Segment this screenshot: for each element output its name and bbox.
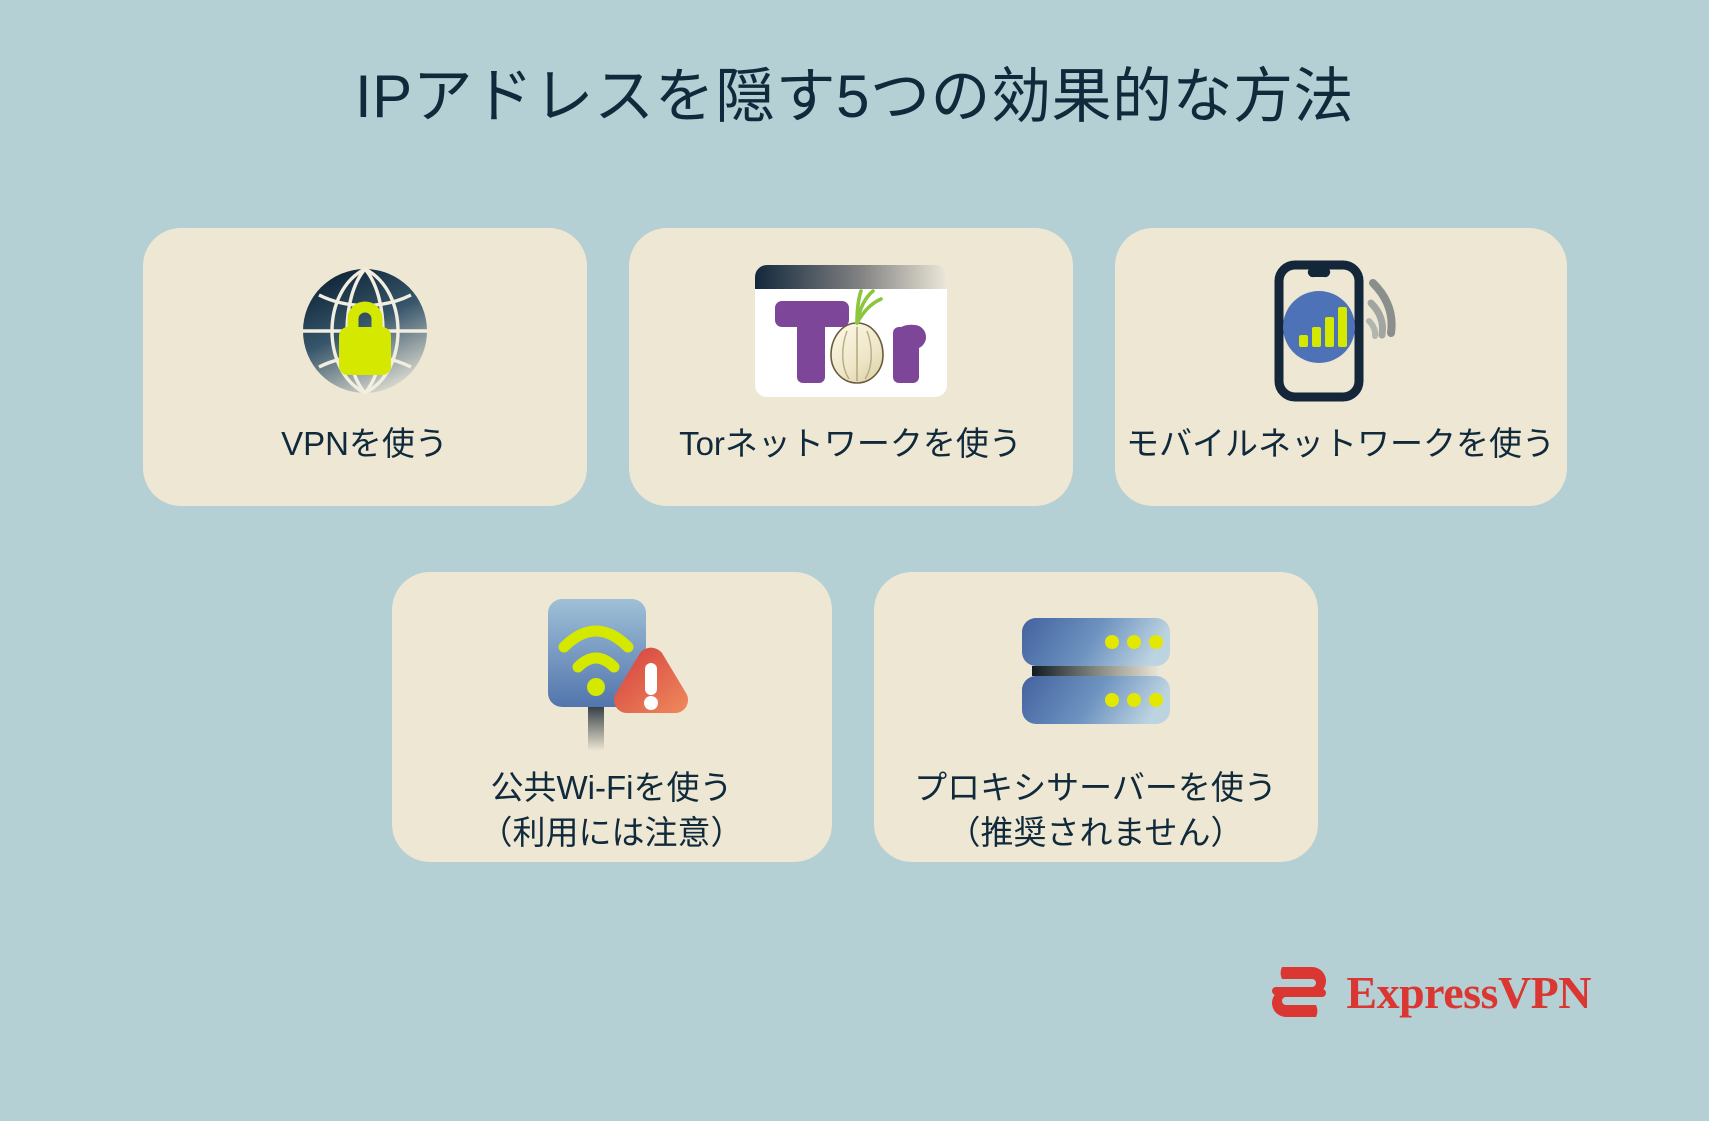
server-unit-bottom bbox=[1022, 676, 1170, 724]
icon-slot-mobile bbox=[1261, 256, 1421, 406]
card-row-bottom: 公共Wi-Fiを使う （利用には注意） bbox=[0, 572, 1709, 862]
icon-slot-vpn bbox=[291, 256, 439, 406]
server-leds-top bbox=[1105, 635, 1163, 649]
card-proxy-server[interactable]: プロキシサーバーを使う （推奨されません） bbox=[874, 572, 1318, 862]
icon-slot-proxy bbox=[1020, 600, 1172, 750]
icon-slot-tor bbox=[753, 256, 949, 406]
card-sublabel-proxy: （推奨されません） bbox=[947, 811, 1243, 856]
signal-waves-shape bbox=[1369, 283, 1392, 336]
card-row-top: VPNを使う bbox=[0, 228, 1709, 506]
smartphone-signal-icon bbox=[1261, 257, 1421, 405]
card-public-wifi[interactable]: 公共Wi-Fiを使う （利用には注意） bbox=[392, 572, 832, 862]
infographic-page: IPアドレスを隠す5つの効果的な方法 bbox=[0, 0, 1709, 1121]
server-unit-top bbox=[1022, 618, 1170, 666]
icon-slot-wifi bbox=[534, 600, 690, 750]
proxy-server-icon bbox=[1020, 616, 1172, 734]
page-title: IPアドレスを隠す5つの効果的な方法 bbox=[0, 62, 1709, 133]
expressvpn-mark-icon bbox=[1268, 963, 1330, 1021]
card-label-tor: Torネットワークを使う bbox=[679, 422, 1022, 467]
server-divider bbox=[1032, 666, 1160, 676]
card-vpn[interactable]: VPNを使う bbox=[143, 228, 587, 506]
globe-lock-icon bbox=[291, 257, 439, 405]
card-sublabel-wifi: （利用には注意） bbox=[480, 811, 744, 856]
brand-name: ExpressVPN bbox=[1346, 966, 1591, 1019]
public-wifi-warning-icon bbox=[534, 595, 690, 755]
card-label-wifi: 公共Wi-Fiを使う bbox=[491, 766, 733, 811]
card-label-vpn: VPNを使う bbox=[281, 422, 448, 467]
tor-browser-icon bbox=[753, 261, 949, 401]
card-mobile-network[interactable]: モバイルネットワークを使う bbox=[1115, 228, 1567, 506]
card-label-proxy: プロキシサーバーを使う bbox=[914, 766, 1277, 811]
server-leds-bottom bbox=[1105, 693, 1163, 707]
card-tor[interactable]: Torネットワークを使う bbox=[629, 228, 1073, 506]
card-label-mobile: モバイルネットワークを使う bbox=[1126, 422, 1555, 467]
brand-logo[interactable]: ExpressVPN bbox=[1268, 963, 1591, 1021]
